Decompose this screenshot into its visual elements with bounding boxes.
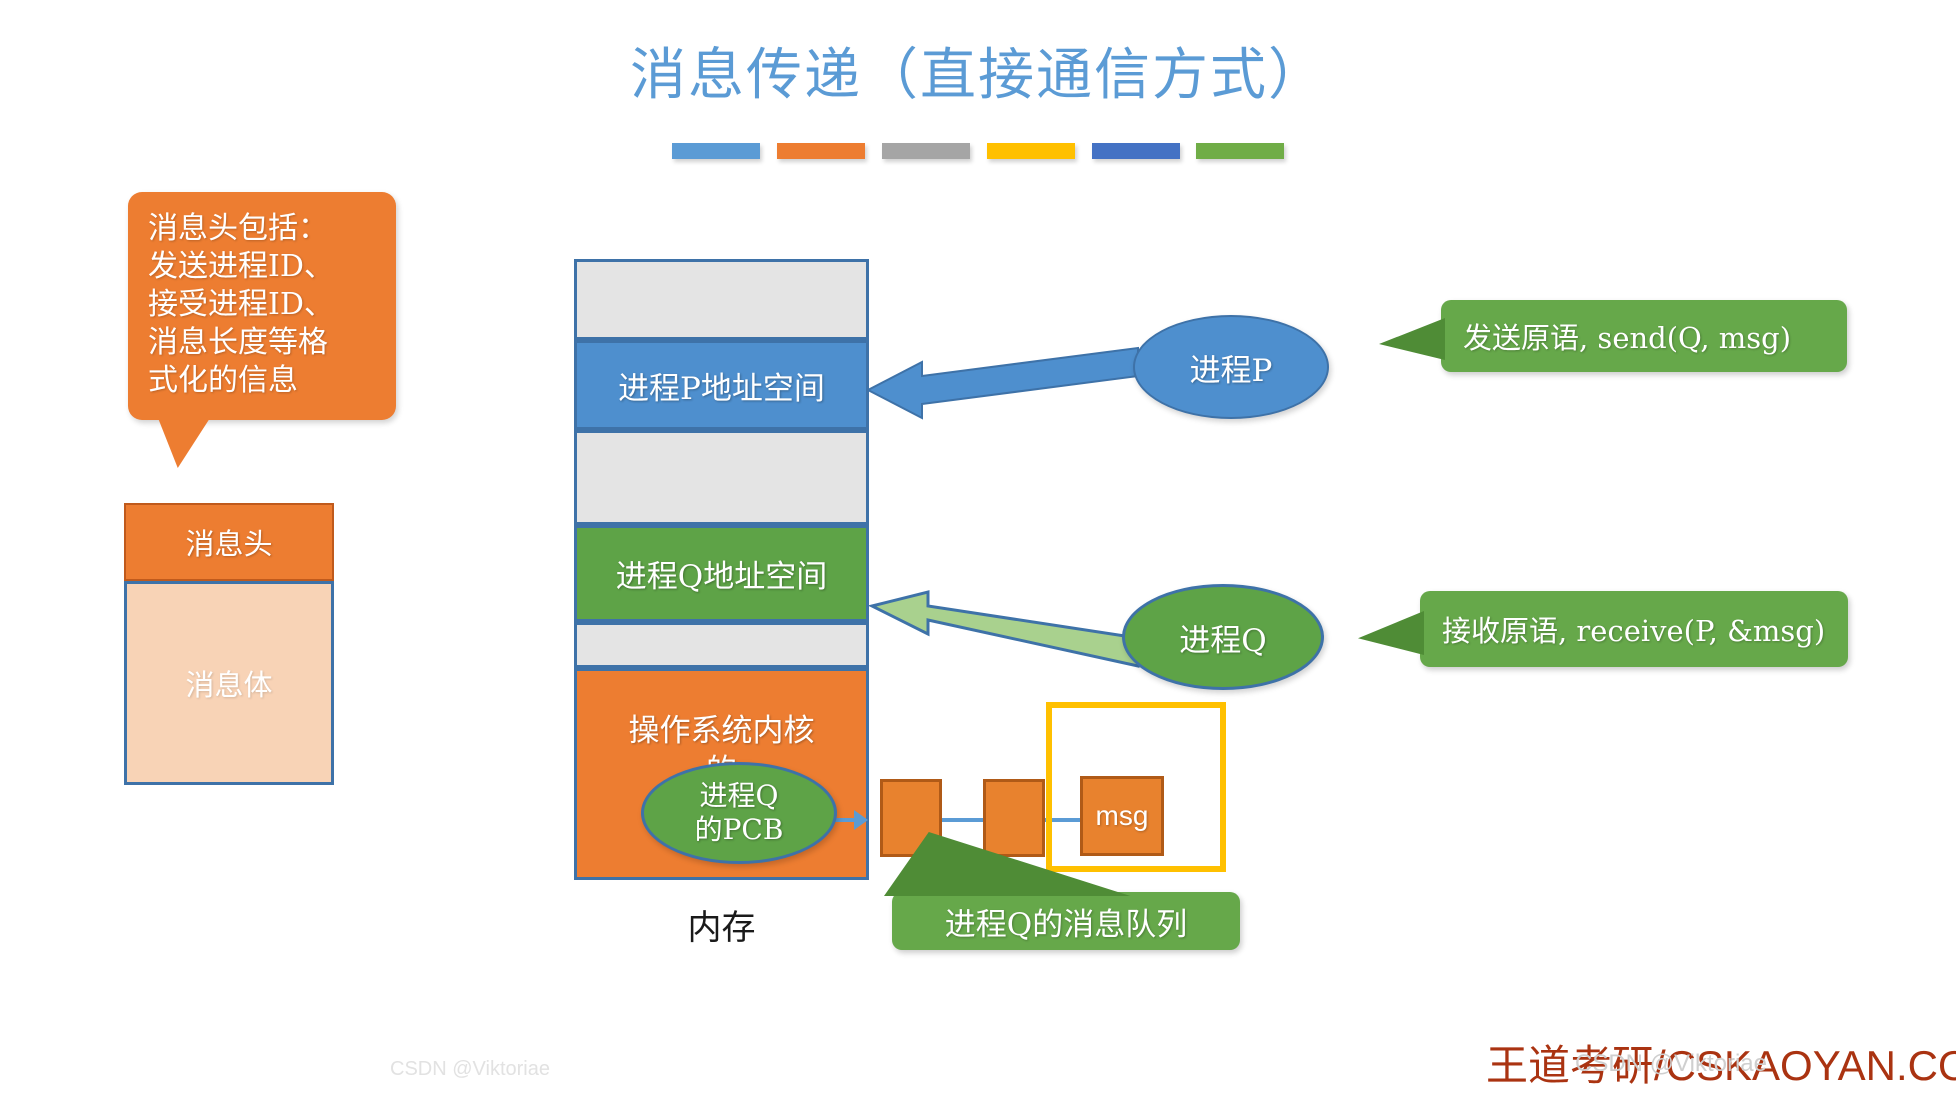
accent-bar-3 bbox=[882, 143, 970, 159]
slide-canvas: 消息传递（直接通信方式） 消息头包括： 发送进程ID、 接受进程ID、 消息长度… bbox=[0, 0, 1956, 1090]
process-p-ellipse[interactable]: 进程P bbox=[1133, 315, 1329, 419]
memory-block-process-p-label: 进程P地址空间 bbox=[618, 363, 825, 408]
receive-primitive-label: 接收原语, receive(P, &msg) bbox=[1442, 608, 1825, 650]
process-q-ellipse[interactable]: 进程Q bbox=[1122, 584, 1324, 690]
callout-line-5: 式化的信息 bbox=[148, 362, 380, 400]
pcb-label-line-2: 的PCB bbox=[695, 813, 784, 847]
memory-block-free-3 bbox=[574, 622, 869, 668]
memory-caption: 内存 bbox=[574, 900, 869, 949]
process-p-label: 进程P bbox=[1190, 345, 1273, 390]
accent-bar-4 bbox=[987, 143, 1075, 159]
callout-line-2: 发送进程ID、 bbox=[148, 248, 380, 286]
queue-box-2 bbox=[983, 779, 1045, 857]
send-primitive-label: 发送原语, send(Q, msg) bbox=[1463, 315, 1791, 357]
callout-line-1: 消息头包括： bbox=[148, 210, 380, 248]
memory-block-free-2 bbox=[574, 430, 869, 525]
arrow-process-q-to-memory bbox=[862, 590, 1142, 690]
arrow-process-p-to-memory bbox=[862, 330, 1142, 420]
memory-block-process-q: 进程Q地址空间 bbox=[574, 525, 869, 622]
memory-block-process-p: 进程P地址空间 bbox=[574, 340, 869, 430]
send-callout-tail bbox=[1379, 318, 1445, 360]
callout-tail bbox=[158, 418, 210, 468]
message-head-box: 消息头 bbox=[124, 503, 334, 581]
memory-block-free-1 bbox=[574, 259, 869, 340]
csdn-watermark: CSDN @Viktoriae bbox=[1575, 1050, 1767, 1078]
message-header-callout: 消息头包括： 发送进程ID、 接受进程ID、 消息长度等格 式化的信息 bbox=[128, 192, 396, 420]
message-queue-callout: 进程Q的消息队列 bbox=[892, 892, 1240, 950]
message-queue-label: 进程Q的消息队列 bbox=[945, 899, 1187, 944]
page-title: 消息传递（直接通信方式） bbox=[0, 30, 1956, 111]
message-queue-highlight bbox=[1046, 702, 1226, 872]
message-body-box: 消息体 bbox=[124, 581, 334, 785]
csdn-watermark-secondary: CSDN @Viktoriae bbox=[390, 1058, 550, 1081]
accent-bar-1 bbox=[672, 143, 760, 159]
callout-line-3: 接受进程ID、 bbox=[148, 286, 380, 324]
accent-bar-5 bbox=[1092, 143, 1180, 159]
message-structure: 消息头 消息体 bbox=[124, 503, 334, 785]
receive-primitive-callout: 接收原语, receive(P, &msg) bbox=[1420, 591, 1848, 667]
send-primitive-callout: 发送原语, send(Q, msg) bbox=[1441, 300, 1847, 372]
receive-callout-tail bbox=[1358, 611, 1424, 655]
accent-bar-2 bbox=[777, 143, 865, 159]
pcb-label-line-1: 进程Q bbox=[700, 779, 779, 813]
process-q-label: 进程Q bbox=[1179, 615, 1266, 660]
accent-bar-strip bbox=[672, 143, 1284, 159]
accent-bar-6 bbox=[1196, 143, 1284, 159]
memory-block-process-q-label: 进程Q地址空间 bbox=[616, 551, 827, 596]
callout-line-4: 消息长度等格 bbox=[148, 324, 380, 362]
process-q-pcb-ellipse[interactable]: 进程Q 的PCB bbox=[641, 762, 837, 864]
